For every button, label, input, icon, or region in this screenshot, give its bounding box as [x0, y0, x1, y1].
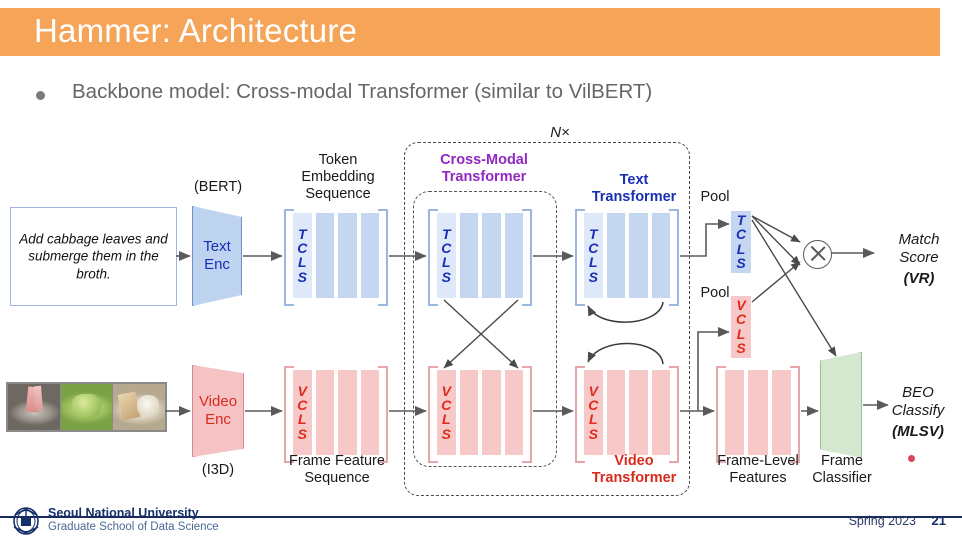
cls-letter-c: C — [584, 241, 603, 255]
cls-letter-v: V — [731, 298, 751, 312]
bracket-right — [790, 366, 800, 463]
text-cls-token: T C L S — [293, 227, 312, 285]
frame-classifier-block — [820, 352, 862, 458]
cls-letter-l: L — [437, 256, 456, 270]
pooled-text-cls: T C L S — [731, 211, 751, 273]
video-cls-token: V C L S — [293, 384, 312, 442]
token-cell — [482, 370, 501, 455]
frame-feature-sequence: V C L S — [284, 366, 388, 459]
text-cls-token: T C L S — [437, 227, 456, 285]
frame-feature-label: Frame Feature Sequence — [274, 453, 400, 487]
cls-letter-t: T — [293, 227, 312, 241]
cls-letter-s: S — [731, 341, 751, 355]
red-dot-marker — [908, 455, 915, 462]
cls-letter-t: T — [437, 227, 456, 241]
token-cell — [505, 370, 524, 455]
token-cells: T C L S — [293, 213, 379, 298]
match-score-label: Match Score — [876, 231, 962, 266]
cls-letter-l: L — [584, 256, 603, 270]
cls-letter-l: L — [584, 413, 603, 427]
token-cells: V C L S — [293, 370, 379, 455]
token-cell — [652, 213, 671, 298]
text-transformer-block: T C L S — [575, 209, 679, 302]
cls-letter-l: L — [437, 413, 456, 427]
input-text-value: Add cabbage leaves and submerge them in … — [11, 230, 176, 283]
text-cls-token: T C L S — [731, 213, 751, 271]
cls-letter-l: L — [731, 327, 751, 341]
token-cell — [725, 370, 744, 455]
cls-letter-c: C — [584, 398, 603, 412]
token-cell — [629, 213, 648, 298]
slide-canvas: Hammer: Architecture Backbone model: Cro… — [0, 0, 962, 543]
text-cls-token: T C L S — [584, 227, 603, 285]
token-cell — [607, 213, 626, 298]
bracket-right — [522, 366, 532, 463]
token-cls-cell: V C L S — [437, 370, 456, 455]
input-text-box: Add cabbage leaves and submerge them in … — [10, 207, 177, 306]
token-cell — [338, 370, 357, 455]
token-cells: V C L S — [437, 370, 523, 455]
video-frame-3 — [113, 384, 165, 430]
cls-letter-s: S — [437, 270, 456, 284]
cross-modal-text-block: T C L S — [428, 209, 532, 302]
bullet-dot-icon — [36, 91, 45, 100]
cls-letter-v: V — [584, 384, 603, 398]
cls-letter-s: S — [584, 427, 603, 441]
cls-letter-l: L — [731, 242, 751, 256]
video-cls-token: V C L S — [731, 298, 751, 356]
cls-letter-l: L — [293, 413, 312, 427]
video-frame-1 — [8, 384, 61, 430]
cls-letter-s: S — [584, 270, 603, 284]
token-cells: V C L S — [584, 370, 670, 455]
video-cls-token: V C L S — [437, 384, 456, 442]
token-cell — [361, 213, 380, 298]
page-number: 21 — [932, 513, 946, 528]
frame-classifier-shape — [820, 352, 862, 458]
cls-letter-s: S — [293, 427, 312, 441]
token-embedding-sequence: T C L S — [284, 209, 388, 302]
cross-modal-video-block: V C L S — [428, 366, 532, 459]
cls-letter-c: C — [437, 241, 456, 255]
bracket-right — [669, 366, 679, 463]
token-cls-cell: T C L S — [437, 213, 456, 298]
video-encoder-label: Video Enc — [192, 393, 244, 429]
token-cell — [361, 370, 380, 455]
bracket-right — [669, 209, 679, 306]
text-transformer-label: Text Transformer — [574, 172, 694, 206]
term-label: Spring 2023 — [849, 514, 916, 528]
pool-text-label: Pool — [692, 189, 738, 206]
token-cell — [748, 370, 767, 455]
cls-letter-s: S — [437, 427, 456, 441]
bracket-right — [378, 366, 388, 463]
cross-modal-transformer-label: Cross-Modal Transformer — [414, 152, 554, 186]
beo-classify-task: (MLSV) — [874, 423, 962, 441]
cls-letter-t: T — [584, 227, 603, 241]
text-encoder-block: Text Enc — [192, 206, 242, 306]
elementwise-product-icon — [803, 240, 832, 269]
cls-letter-v: V — [293, 384, 312, 398]
video-encoder-block: Video Enc — [192, 365, 244, 457]
frame-classifier-label: Frame Classifier — [806, 453, 878, 487]
video-encoder-sublabel: (I3D) — [163, 462, 273, 479]
bullet-row: Backbone model: Cross-modal Transformer … — [36, 80, 916, 110]
token-cell — [338, 213, 357, 298]
cls-letter-v: V — [437, 384, 456, 398]
cls-letter-t: T — [731, 213, 751, 227]
bracket-right — [522, 209, 532, 306]
cls-letter-c: C — [293, 398, 312, 412]
pooled-video-cls: V C L S — [731, 296, 751, 358]
token-cell — [460, 370, 479, 455]
bullet-text: Backbone model: Cross-modal Transformer … — [72, 80, 652, 104]
token-cell — [652, 370, 671, 455]
bracket-right — [378, 209, 388, 306]
page-title: Hammer: Architecture — [34, 12, 357, 50]
frame-level-features — [716, 366, 800, 459]
token-cells: T C L S — [584, 213, 670, 298]
video-frame-2 — [61, 384, 114, 430]
cls-letter-s: S — [731, 256, 751, 270]
token-cell — [316, 213, 335, 298]
token-cell — [316, 370, 335, 455]
token-cell — [629, 370, 648, 455]
beo-classify-label: BEO Classify — [874, 384, 962, 419]
text-encoder-sublabel: (BERT) — [163, 179, 273, 196]
cls-letter-c: C — [437, 398, 456, 412]
cls-letter-c: C — [293, 241, 312, 255]
token-embedding-label: Token Embedding Sequence — [278, 152, 398, 203]
cls-letter-s: S — [293, 270, 312, 284]
university-logo-icon — [10, 506, 42, 536]
video-thumbnail-strip — [6, 382, 167, 432]
video-transformer-block: V C L S — [575, 366, 679, 459]
token-cell — [772, 370, 791, 455]
token-cls-cell: T C L S — [293, 213, 312, 298]
video-cls-token: V C L S — [584, 384, 603, 442]
video-transformer-label: Video Transformer — [574, 453, 694, 487]
token-cell — [607, 370, 626, 455]
token-cells — [725, 370, 791, 455]
school-name: Graduate School of Data Science — [48, 521, 219, 533]
match-score-task: (VR) — [876, 270, 962, 288]
cls-letter-c: C — [731, 313, 751, 327]
token-cls-cell: V C L S — [584, 370, 603, 455]
token-cell — [505, 213, 524, 298]
token-cls-cell: V C L S — [293, 370, 312, 455]
cls-letter-c: C — [731, 228, 751, 242]
frame-level-label: Frame-Level Features — [706, 453, 810, 487]
token-cell — [482, 213, 501, 298]
university-name: Seoul National University — [48, 506, 199, 520]
repeat-count-label: N× — [520, 124, 600, 142]
token-cls-cell: T C L S — [584, 213, 603, 298]
token-cell — [460, 213, 479, 298]
token-cells: T C L S — [437, 213, 523, 298]
text-encoder-label: Text Enc — [192, 238, 242, 274]
cls-letter-l: L — [293, 256, 312, 270]
